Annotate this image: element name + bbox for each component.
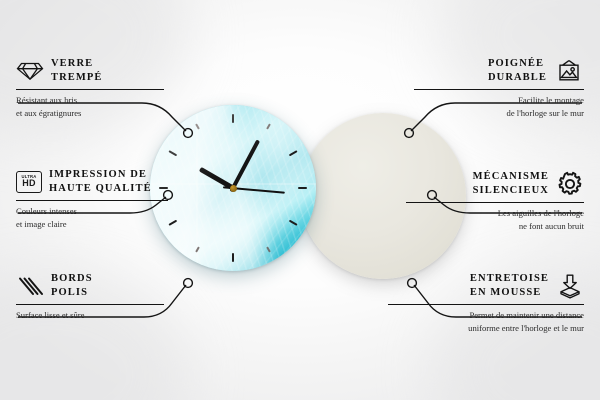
callout-divider (16, 89, 164, 91)
callout-divider (16, 200, 168, 202)
callout-title-row: ENTRETOISE EN MOUSSE (388, 272, 584, 300)
callout-description: Facilite le montage de l'horloge sur le … (414, 94, 584, 118)
diamond-icon (16, 60, 44, 82)
callout-bords-polis[interactable]: BORDS POLIS Surface lisse et sûre (16, 272, 164, 322)
callout-title-row: MÉCANISME SILENCIEUX (406, 170, 584, 198)
callout-description: Résistant aux bris et aux égratignures (16, 94, 164, 118)
clock-glass-gloss (150, 105, 316, 271)
ultra-hd-icon: ultra HD (16, 171, 42, 193)
callout-title-row: POIGNÉE DURABLE (414, 57, 584, 85)
callout-title: MÉCANISME SILENCIEUX (473, 170, 549, 198)
callout-mecanisme-silencieux[interactable]: MÉCANISME SILENCIEUX Les aiguilles de l'… (406, 170, 584, 232)
callout-divider (16, 304, 164, 306)
callout-verre-trempe[interactable]: VERRE TREMPÉ Résistant aux bris et aux é… (16, 57, 164, 119)
callout-title-row: VERRE TREMPÉ (16, 57, 164, 85)
callout-divider (406, 202, 584, 204)
callout-title: POIGNÉE DURABLE (488, 57, 547, 85)
callout-poignee-durable[interactable]: POIGNÉE DURABLE Facilite le montage de l… (414, 57, 584, 119)
infographic-canvas: + (0, 0, 600, 400)
gear-icon (556, 171, 584, 197)
callout-title: BORDS POLIS (51, 272, 93, 300)
callout-title-row: ultra HD IMPRESSION DE HAUTE QUALITÉ (16, 168, 168, 196)
callout-description: Les aiguilles de l'horloge ne font aucun… (406, 207, 584, 231)
callout-divider (388, 304, 584, 306)
callout-entretoise-en-mousse[interactable]: ENTRETOISE EN MOUSSE Permet de maintenir… (388, 272, 584, 334)
callout-description: Couleurs intenses et image claire (16, 205, 168, 229)
wall-clock-face (150, 105, 316, 271)
wire-endpoint-bords-polis (184, 279, 193, 288)
callout-title: ENTRETOISE EN MOUSSE (470, 272, 549, 300)
callout-title-row: BORDS POLIS (16, 272, 164, 300)
hanging-picture-icon (554, 59, 584, 83)
foam-spacer-icon (556, 273, 584, 299)
callout-title: VERRE TREMPÉ (51, 57, 103, 85)
callout-description: Surface lisse et sûre (16, 309, 164, 321)
callout-divider (414, 89, 584, 91)
callout-impression-haute-qualite[interactable]: ultra HD IMPRESSION DE HAUTE QUALITÉ Cou… (16, 168, 168, 230)
ultra-hd-icon-bottom: HD (22, 179, 36, 189)
callout-title: IMPRESSION DE HAUTE QUALITÉ (49, 168, 152, 196)
polished-edges-icon (16, 275, 44, 297)
callout-description: Permet de maintenir une distance uniform… (388, 309, 584, 333)
